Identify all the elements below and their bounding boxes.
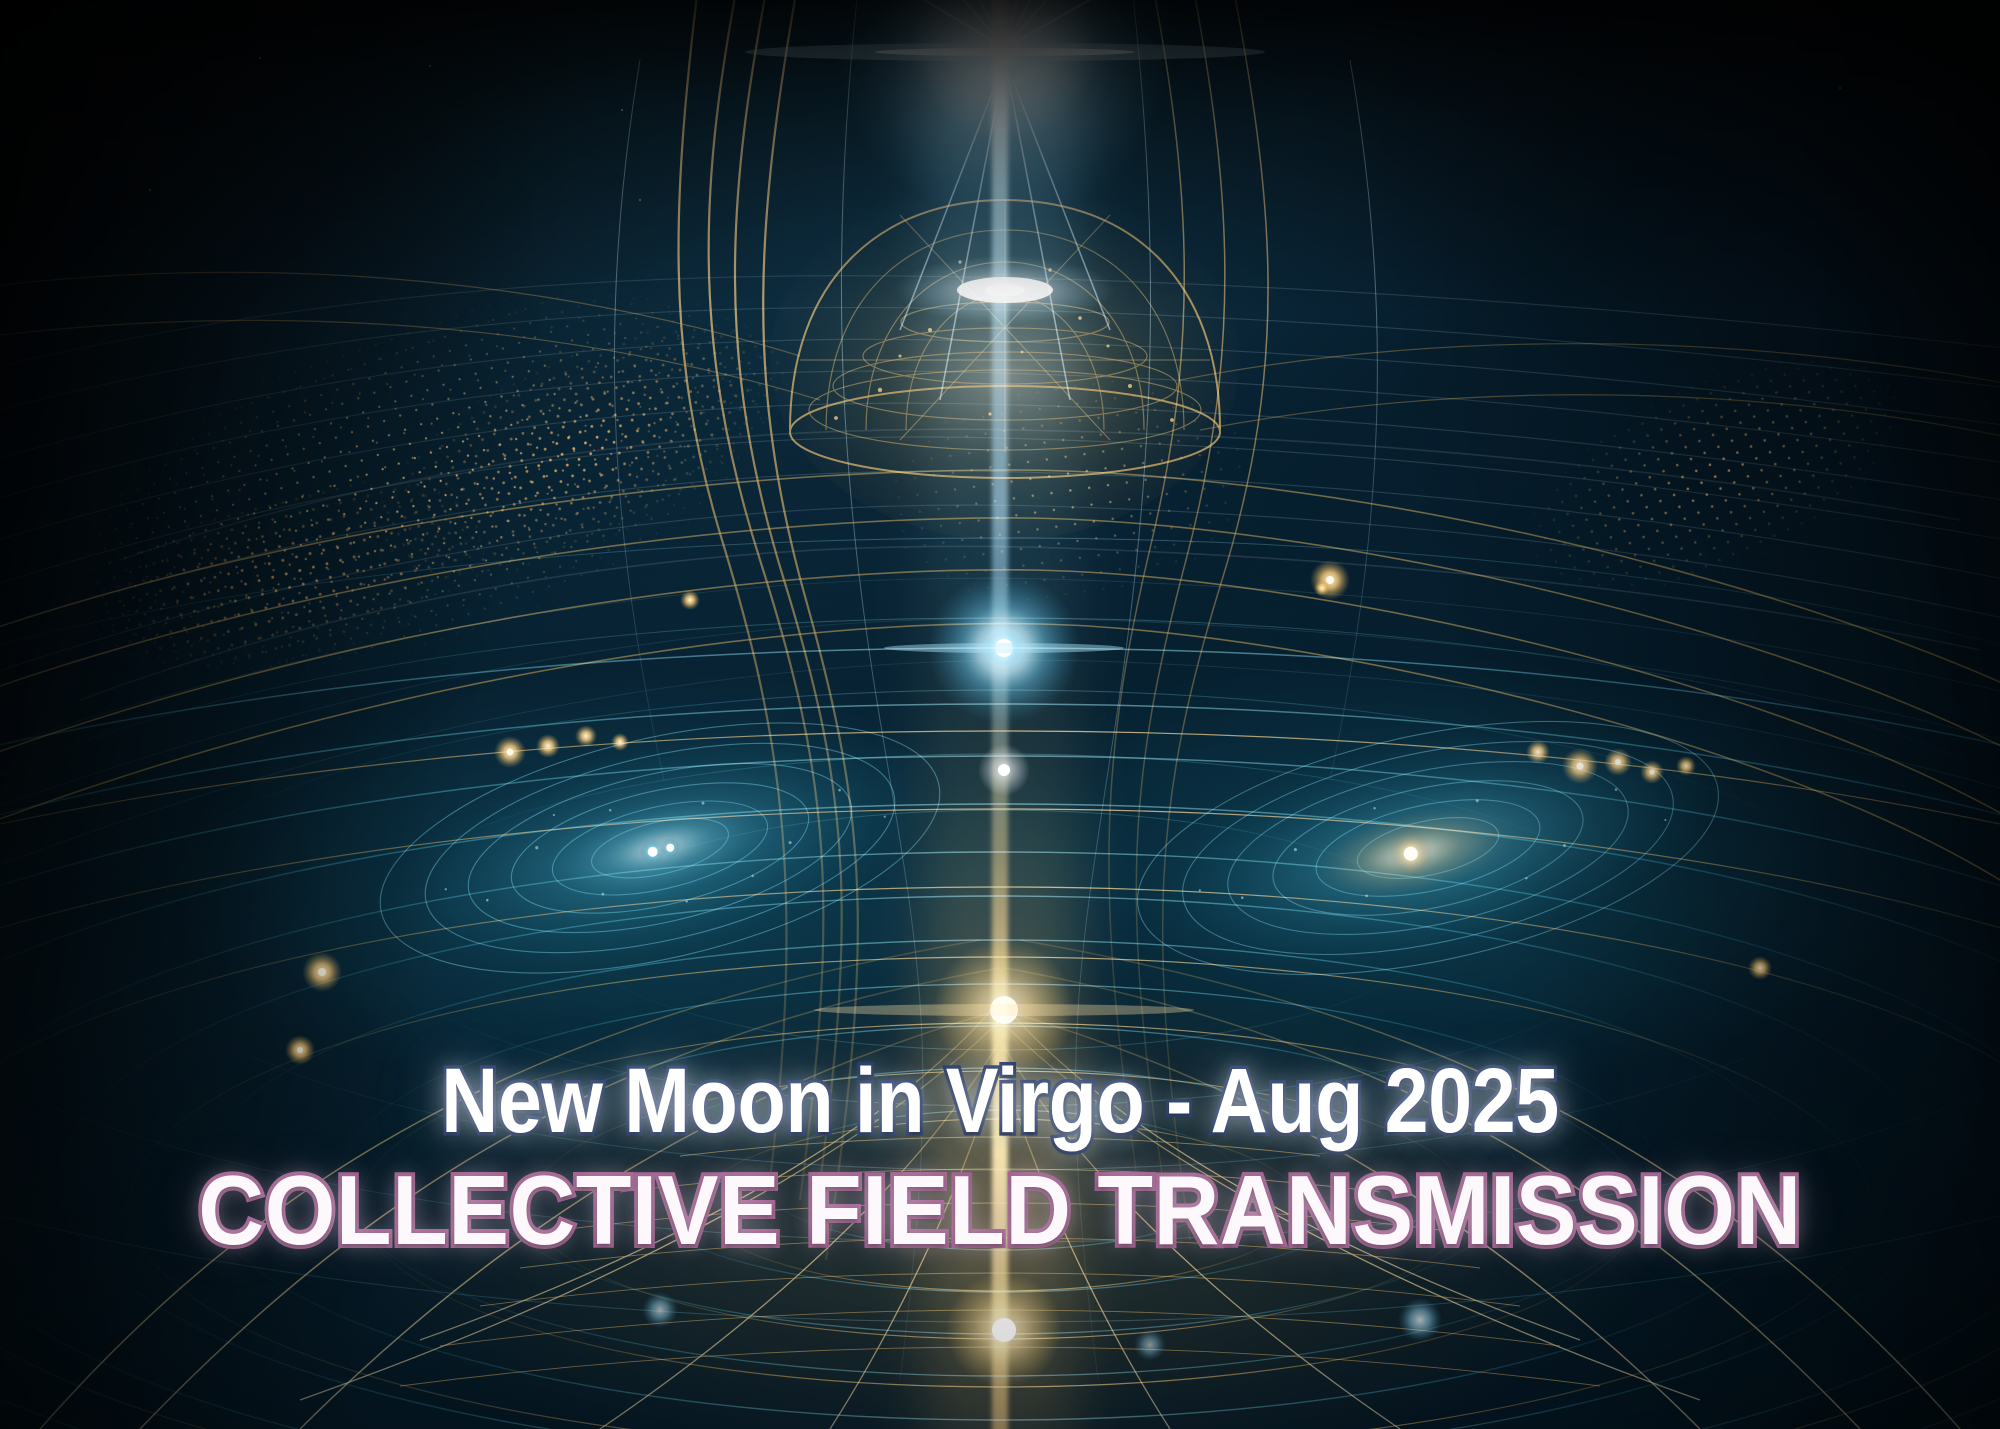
headline-primary: New Moon in Virgo - Aug 2025	[140, 1055, 1860, 1147]
headline-secondary: COLLECTIVE FIELD TRANSMISSION	[70, 1161, 1930, 1259]
poster-canvas: New Moon in Virgo - Aug 2025 COLLECTIVE …	[0, 0, 2000, 1429]
title-block: New Moon in Virgo - Aug 2025 COLLECTIVE …	[0, 1055, 2000, 1259]
